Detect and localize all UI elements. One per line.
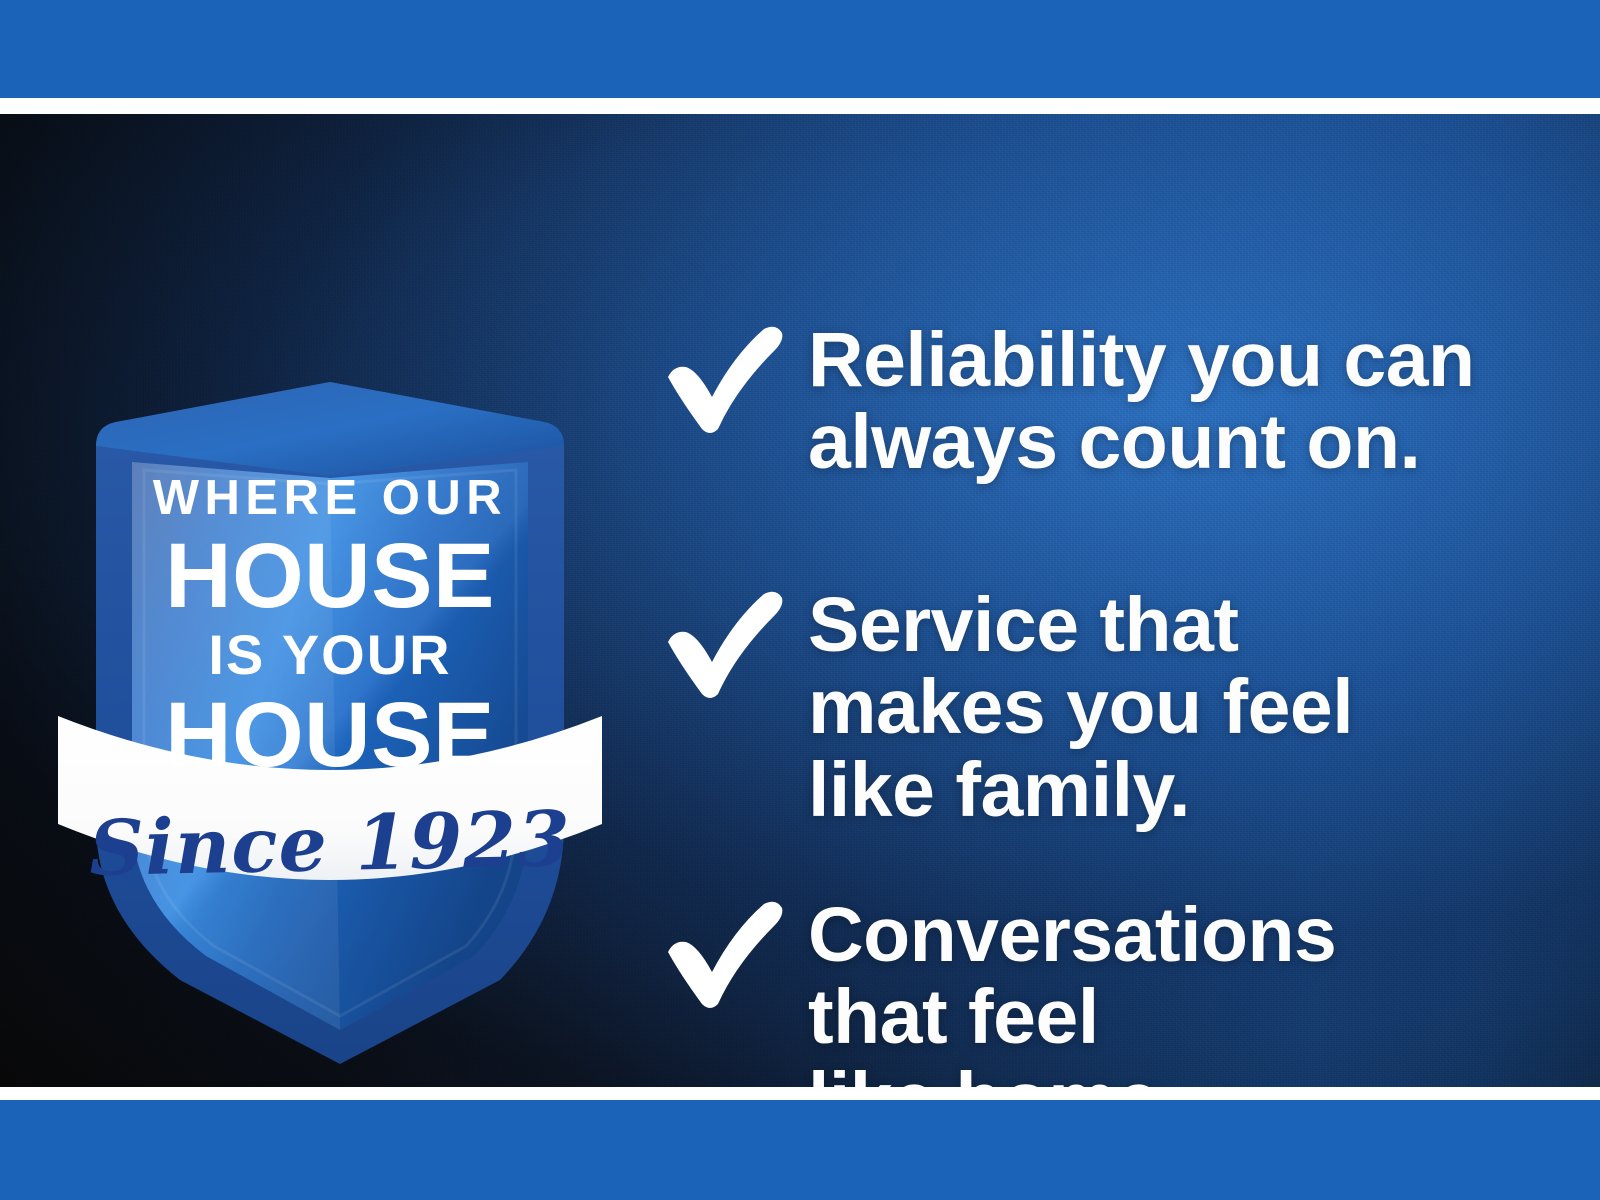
- benefit-line: like home.: [808, 1059, 1336, 1087]
- main-panel: WHERE OUR HOUSE IS YOUR HOUSE Since 1923…: [0, 114, 1600, 1087]
- list-item: Conversations that feel like home.: [660, 894, 1560, 1087]
- list-item: Reliability you can always count on.: [660, 319, 1560, 484]
- promo-poster: WHERE OUR HOUSE IS YOUR HOUSE Since 1923…: [0, 0, 1600, 1200]
- benefits-list: Reliability you can always count on. Ser…: [660, 264, 1560, 1087]
- check-icon: [660, 894, 788, 1014]
- top-brand-bar: [0, 0, 1600, 98]
- check-icon: [660, 319, 788, 439]
- benefit-line: Conversations: [808, 894, 1336, 976]
- benefit-line: makes you feel: [808, 666, 1353, 748]
- bottom-brand-bar: [0, 1100, 1600, 1200]
- benefit-line: like family.: [808, 749, 1353, 831]
- benefit-text: Conversations that feel like home.: [808, 894, 1336, 1087]
- benefit-text: Service that makes you feel like family.: [808, 584, 1353, 831]
- check-icon: [660, 584, 788, 704]
- benefit-line: Reliability you can: [808, 319, 1475, 401]
- shield-logo: WHERE OUR HOUSE IS YOUR HOUSE Since 1923: [40, 264, 620, 1084]
- benefit-line: Service that: [808, 584, 1353, 666]
- list-item: Service that makes you feel like family.: [660, 584, 1560, 831]
- benefit-line: always count on.: [808, 401, 1475, 483]
- benefit-line: that feel: [808, 976, 1336, 1058]
- benefit-text: Reliability you can always count on.: [808, 319, 1475, 484]
